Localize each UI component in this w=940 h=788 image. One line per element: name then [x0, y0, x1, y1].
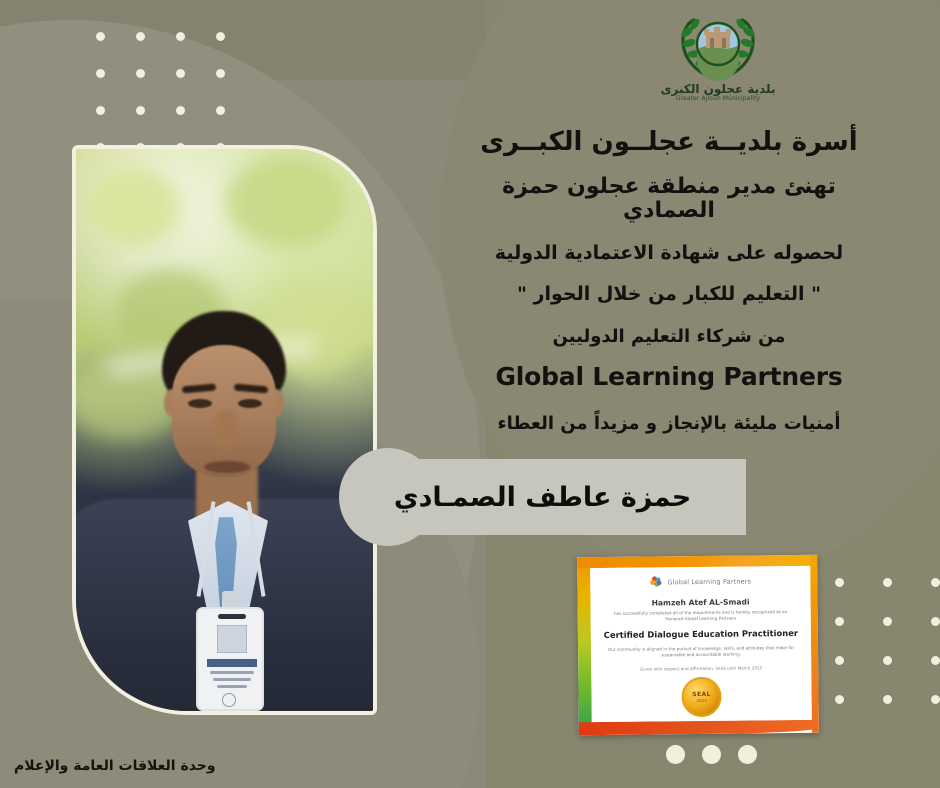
dot — [835, 656, 844, 665]
dot — [96, 32, 105, 41]
footer-department-label: وحدة العلاقات العامة والإعلام — [14, 758, 216, 774]
portrait-eye-left — [188, 399, 212, 408]
portrait-mouth — [204, 461, 250, 473]
dot — [835, 617, 844, 626]
certificate-recipient-name: Hamzeh Atef AL-Smadi — [591, 597, 811, 608]
certificate-bottom-gradient-border — [579, 720, 819, 736]
dot — [835, 578, 844, 587]
dot — [136, 69, 145, 78]
badge-line — [210, 671, 254, 674]
dot — [136, 32, 145, 41]
dot — [738, 745, 757, 764]
message-line-4-certificate-title: " التعليم للكبار من خلال الحوار " — [454, 284, 884, 305]
decorative-dot-grid-bottom-right — [835, 578, 940, 704]
certificate-credential-title: Certified Dialogue Education Practitione… — [591, 628, 811, 640]
portrait-id-badge — [196, 607, 264, 711]
portrait-nose — [216, 411, 236, 447]
dot — [96, 69, 105, 78]
global-learning-partners-logo-icon — [649, 575, 663, 589]
dot — [883, 656, 892, 665]
badge-line — [217, 685, 247, 688]
certificate-image: Global Learning Partners Hamzeh Atef AL-… — [577, 555, 819, 736]
badge-slot — [218, 614, 246, 619]
certificate-logo-row: Global Learning Partners — [590, 574, 810, 590]
portrait-eye-right — [238, 399, 262, 408]
dot — [931, 695, 940, 704]
message-line-6-organization: Global Learning Partners — [454, 363, 884, 391]
congratulation-message: أسرة بلديــة عجلــون الكبــرى تهنئ مدير … — [454, 128, 884, 434]
dot — [931, 617, 940, 626]
message-line-5: من شركاء التعليم الدوليين — [454, 327, 884, 347]
certificate-org-name: Global Learning Partners — [668, 577, 752, 586]
dot — [666, 745, 685, 764]
municipality-emblem-icon — [670, 16, 766, 82]
dot — [136, 106, 145, 115]
badge-photo — [217, 625, 247, 653]
dot — [931, 578, 940, 587]
dot — [96, 106, 105, 115]
decorative-dot-grid-top-left — [96, 32, 225, 152]
dot — [835, 695, 844, 704]
decorative-dot-row-bottom-center — [666, 745, 757, 764]
dot — [883, 617, 892, 626]
dot — [216, 106, 225, 115]
certificate-subtitle: has successfully completed all of the re… — [591, 609, 811, 623]
honoree-name: حمزة عاطف الصمـادي — [339, 459, 746, 535]
certificate-seal-year: 2023 — [696, 698, 706, 703]
certificate-paragraph: Our community is aligned in the pursuit … — [591, 645, 811, 659]
congratulation-poster: بلدية عجلون الكبرى Greater Ajloun Munici… — [0, 0, 940, 788]
dot — [176, 106, 185, 115]
badge-line — [213, 678, 251, 681]
logo-english-name: Greater Ajloun Municipality — [659, 96, 777, 103]
message-line-3: لحصوله على شهادة الاعتمادية الدولية — [454, 243, 884, 264]
message-line-7: أمنيات مليئة بالإنجاز و مزيداً من العطاء — [454, 414, 884, 434]
dot — [216, 32, 225, 41]
dot — [176, 32, 185, 41]
dot — [216, 69, 225, 78]
dot — [702, 745, 721, 764]
portrait-photo — [72, 145, 377, 715]
certificate-footer-note: Given with respect and affirmation. Vali… — [591, 665, 811, 674]
badge-color-bar — [207, 659, 257, 667]
badge-seal — [222, 693, 236, 707]
certificate-seal: SEAL 2023 — [681, 676, 721, 716]
dot — [176, 69, 185, 78]
dot — [883, 695, 892, 704]
portrait-photo-image — [76, 149, 373, 711]
municipality-logo: بلدية عجلون الكبرى Greater Ajloun Munici… — [659, 16, 777, 108]
certificate-body: Global Learning Partners Hamzeh Atef AL-… — [590, 566, 812, 722]
dot — [883, 578, 892, 587]
message-line-2: تهنئ مدير منطقة عجلون حمزة الصمادي — [454, 175, 884, 223]
message-line-1: أسرة بلديــة عجلــون الكبــرى — [454, 128, 884, 157]
dot — [931, 656, 940, 665]
